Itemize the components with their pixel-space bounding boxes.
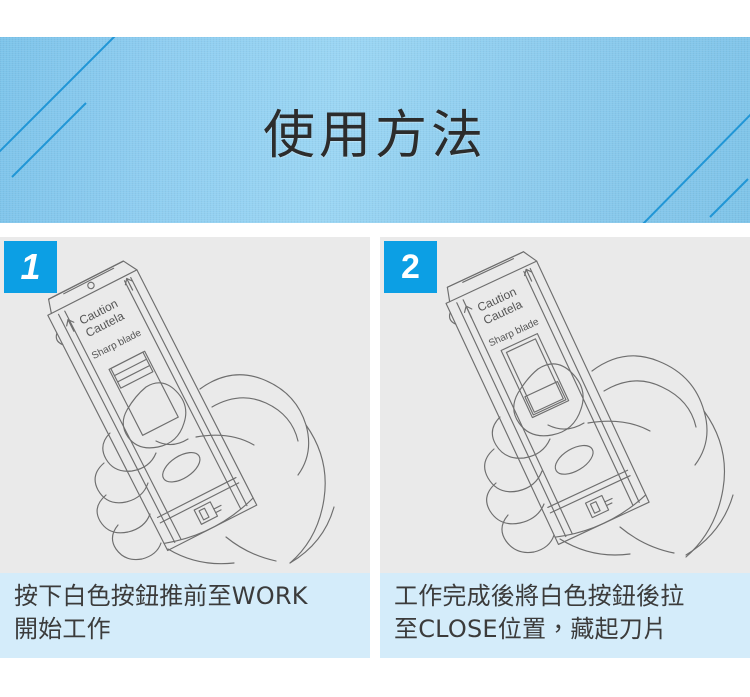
page-banner: 使用方法 bbox=[0, 37, 750, 223]
step-1-figure: 1 bbox=[0, 237, 370, 573]
up-arrow-left-icon bbox=[462, 304, 475, 319]
step-card-2: 2 bbox=[380, 237, 750, 658]
steps-container: 1 bbox=[0, 237, 750, 658]
page-title: 使用方法 bbox=[0, 37, 750, 223]
step-card-1: 1 bbox=[0, 237, 370, 658]
step-2-caption: 工作完成後將白色按鈕後拉 至CLOSE位置，藏起刀片 bbox=[380, 573, 750, 658]
step-2-number-badge: 2 bbox=[384, 241, 437, 293]
step-2-figure: 2 bbox=[380, 237, 750, 573]
step-1-number-badge: 1 bbox=[4, 241, 57, 293]
step-1-caption: 按下白色按鈕推前至WORK 開始工作 bbox=[0, 573, 370, 658]
